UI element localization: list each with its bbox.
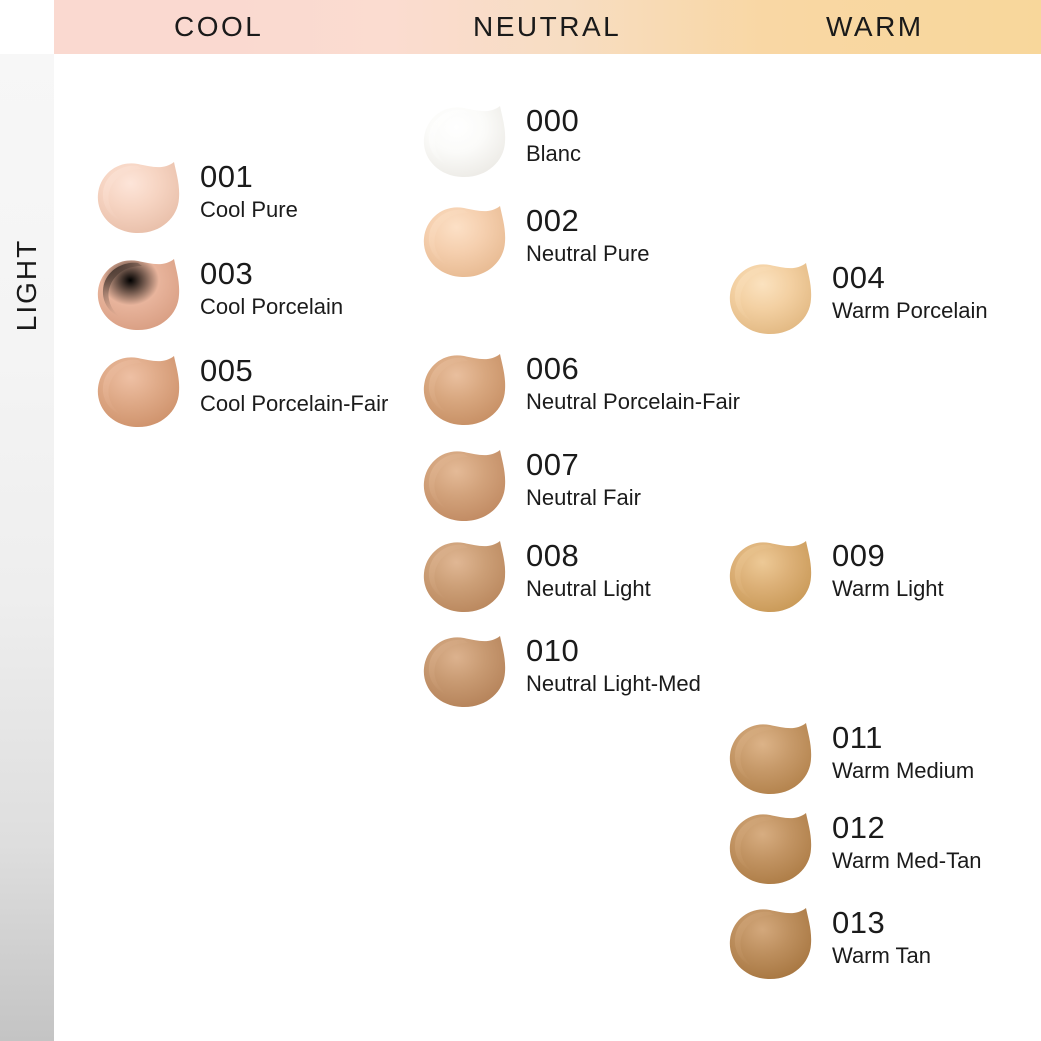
shade-code: 013 [832,906,931,939]
shade-code: 009 [832,539,944,572]
shade-text: 012Warm Med-Tan [832,807,982,875]
cream-drop-icon [726,535,818,617]
shade-swatch [726,257,818,339]
shade-text: 003Cool Porcelain [200,253,343,321]
shade-code: 010 [526,634,701,667]
shade-entry[interactable]: 002Neutral Pure [420,200,650,282]
cream-drop-icon [726,807,818,889]
shade-name: Neutral Light-Med [526,670,701,698]
shade-name: Neutral Porcelain-Fair [526,388,740,416]
column-header-neutral: NEUTRAL [473,0,621,54]
shade-text: 008Neutral Light [526,535,651,603]
shade-code: 005 [200,354,388,387]
shade-swatch [420,348,512,430]
shade-swatch [726,535,818,617]
column-header-warm: WARM [826,0,924,54]
swatch-board: 000Blanc001Cool Pure002Neutral Pure003Co… [54,54,1041,1041]
cream-drop-icon [420,630,512,712]
undertone-header-band: COOL NEUTRAL WARM [54,0,1041,54]
column-header-cool: COOL [174,0,263,54]
shade-text: 010Neutral Light-Med [526,630,701,698]
shade-name: Neutral Fair [526,484,641,512]
cream-drop-icon [726,257,818,339]
shade-entry[interactable]: 013Warm Tan [726,902,931,984]
shade-swatch [420,100,512,182]
shade-code: 002 [526,204,650,237]
shade-text: 009Warm Light [832,535,944,603]
shade-code: 007 [526,448,641,481]
shade-name: Cool Porcelain-Fair [200,390,388,418]
cream-drop-icon [420,535,512,617]
shade-swatch [420,444,512,526]
cream-drop-icon [420,444,512,526]
cream-drop-icon [726,717,818,799]
shade-code: 011 [832,721,974,754]
shade-entry[interactable]: 012Warm Med-Tan [726,807,982,889]
shade-text: 011Warm Medium [832,717,974,785]
depth-range-rail: LIGHT [0,54,54,1041]
shade-swatch [94,350,186,432]
shade-entry[interactable]: 010Neutral Light-Med [420,630,701,712]
shade-code: 006 [526,352,740,385]
shade-entry[interactable]: 000Blanc [420,100,581,182]
shade-name: Neutral Pure [526,240,650,268]
shade-name: Warm Medium [832,757,974,785]
shade-swatch [420,200,512,282]
shade-text: 004Warm Porcelain [832,257,988,325]
shade-swatch [420,630,512,712]
shade-entry[interactable]: 001Cool Pure [94,156,298,238]
shade-swatch [726,717,818,799]
shade-name: Cool Porcelain [200,293,343,321]
shade-text: 002Neutral Pure [526,200,650,268]
shade-name: Warm Tan [832,942,931,970]
cream-drop-icon [94,350,186,432]
shade-name: Neutral Light [526,575,651,603]
shade-text: 006Neutral Porcelain-Fair [526,348,740,416]
shade-name: Warm Med-Tan [832,847,982,875]
shade-code: 001 [200,160,298,193]
shade-text: 000Blanc [526,100,581,168]
shade-name: Warm Porcelain [832,297,988,325]
shade-entry[interactable]: 011Warm Medium [726,717,974,799]
shade-text: 001Cool Pure [200,156,298,224]
shade-text: 013Warm Tan [832,902,931,970]
cream-drop-icon [94,156,186,238]
shade-code: 000 [526,104,581,137]
shade-entry[interactable]: 009Warm Light [726,535,944,617]
shade-swatch [726,902,818,984]
foundation-shade-chart: COOL NEUTRAL WARM LIGHT 000Blanc001Cool … [0,0,1041,1041]
cream-drop-icon [726,902,818,984]
shade-entry[interactable]: 003Cool Porcelain [94,253,343,335]
depth-range-label: LIGHT [11,239,43,331]
cream-drop-icon [420,348,512,430]
shade-code: 008 [526,539,651,572]
shade-entry[interactable]: 008Neutral Light [420,535,651,617]
cream-drop-icon [94,253,186,335]
shade-entry[interactable]: 006Neutral Porcelain-Fair [420,348,740,430]
cream-drop-icon [420,200,512,282]
shade-code: 003 [200,257,343,290]
shade-code: 012 [832,811,982,844]
shade-swatch [420,535,512,617]
shade-code: 004 [832,261,988,294]
cream-drop-icon [420,100,512,182]
shade-name: Warm Light [832,575,944,603]
shade-entry[interactable]: 004Warm Porcelain [726,257,988,339]
shade-text: 007Neutral Fair [526,444,641,512]
shade-swatch [94,253,186,335]
shade-text: 005Cool Porcelain-Fair [200,350,388,418]
shade-name: Blanc [526,140,581,168]
shade-name: Cool Pure [200,196,298,224]
shade-entry[interactable]: 005Cool Porcelain-Fair [94,350,388,432]
shade-swatch [726,807,818,889]
shade-swatch [94,156,186,238]
shade-entry[interactable]: 007Neutral Fair [420,444,641,526]
